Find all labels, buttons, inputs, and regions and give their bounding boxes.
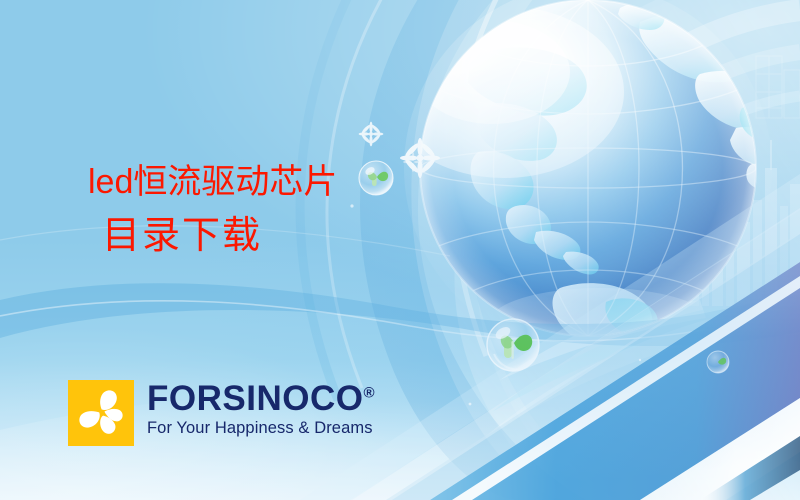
company-logo[interactable]: FORSINOCO® For Your Happiness & Dreams <box>68 380 375 446</box>
logo-tagline: For Your Happiness & Dreams <box>147 419 375 438</box>
registered-trademark-icon: ® <box>363 384 374 401</box>
daisy-sparkle-icon <box>359 122 440 178</box>
sparkle-dot <box>350 204 641 405</box>
logo-typography: FORSINOCO® For Your Happiness & Dreams <box>147 380 375 438</box>
swirling-ribbon-curve <box>454 0 800 500</box>
page-title-line-1: led恒流驱动芯片 <box>88 162 337 202</box>
four-petal-pinwheel-icon <box>68 380 134 446</box>
bubble-with-sprout-icon <box>487 319 539 371</box>
bubble-with-sprout-icon <box>359 161 393 195</box>
logo-wordmark-text: FORSINOCO <box>147 379 363 418</box>
bubble-with-sprout-icon <box>707 351 729 373</box>
promo-banner: led恒流驱动芯片 目录下载 FORSINOCO® For Your Happi… <box>0 0 800 500</box>
page-title-line-2: 目录下载 <box>102 214 337 259</box>
city-skyline-silhouette <box>646 56 800 306</box>
earth-globe-graphic <box>384 0 778 367</box>
page-title: led恒流驱动芯片 目录下载 <box>88 162 337 259</box>
logo-wordmark: FORSINOCO® <box>147 381 375 416</box>
light-streak <box>486 300 742 436</box>
diagonal-ribbon-band <box>300 174 800 500</box>
